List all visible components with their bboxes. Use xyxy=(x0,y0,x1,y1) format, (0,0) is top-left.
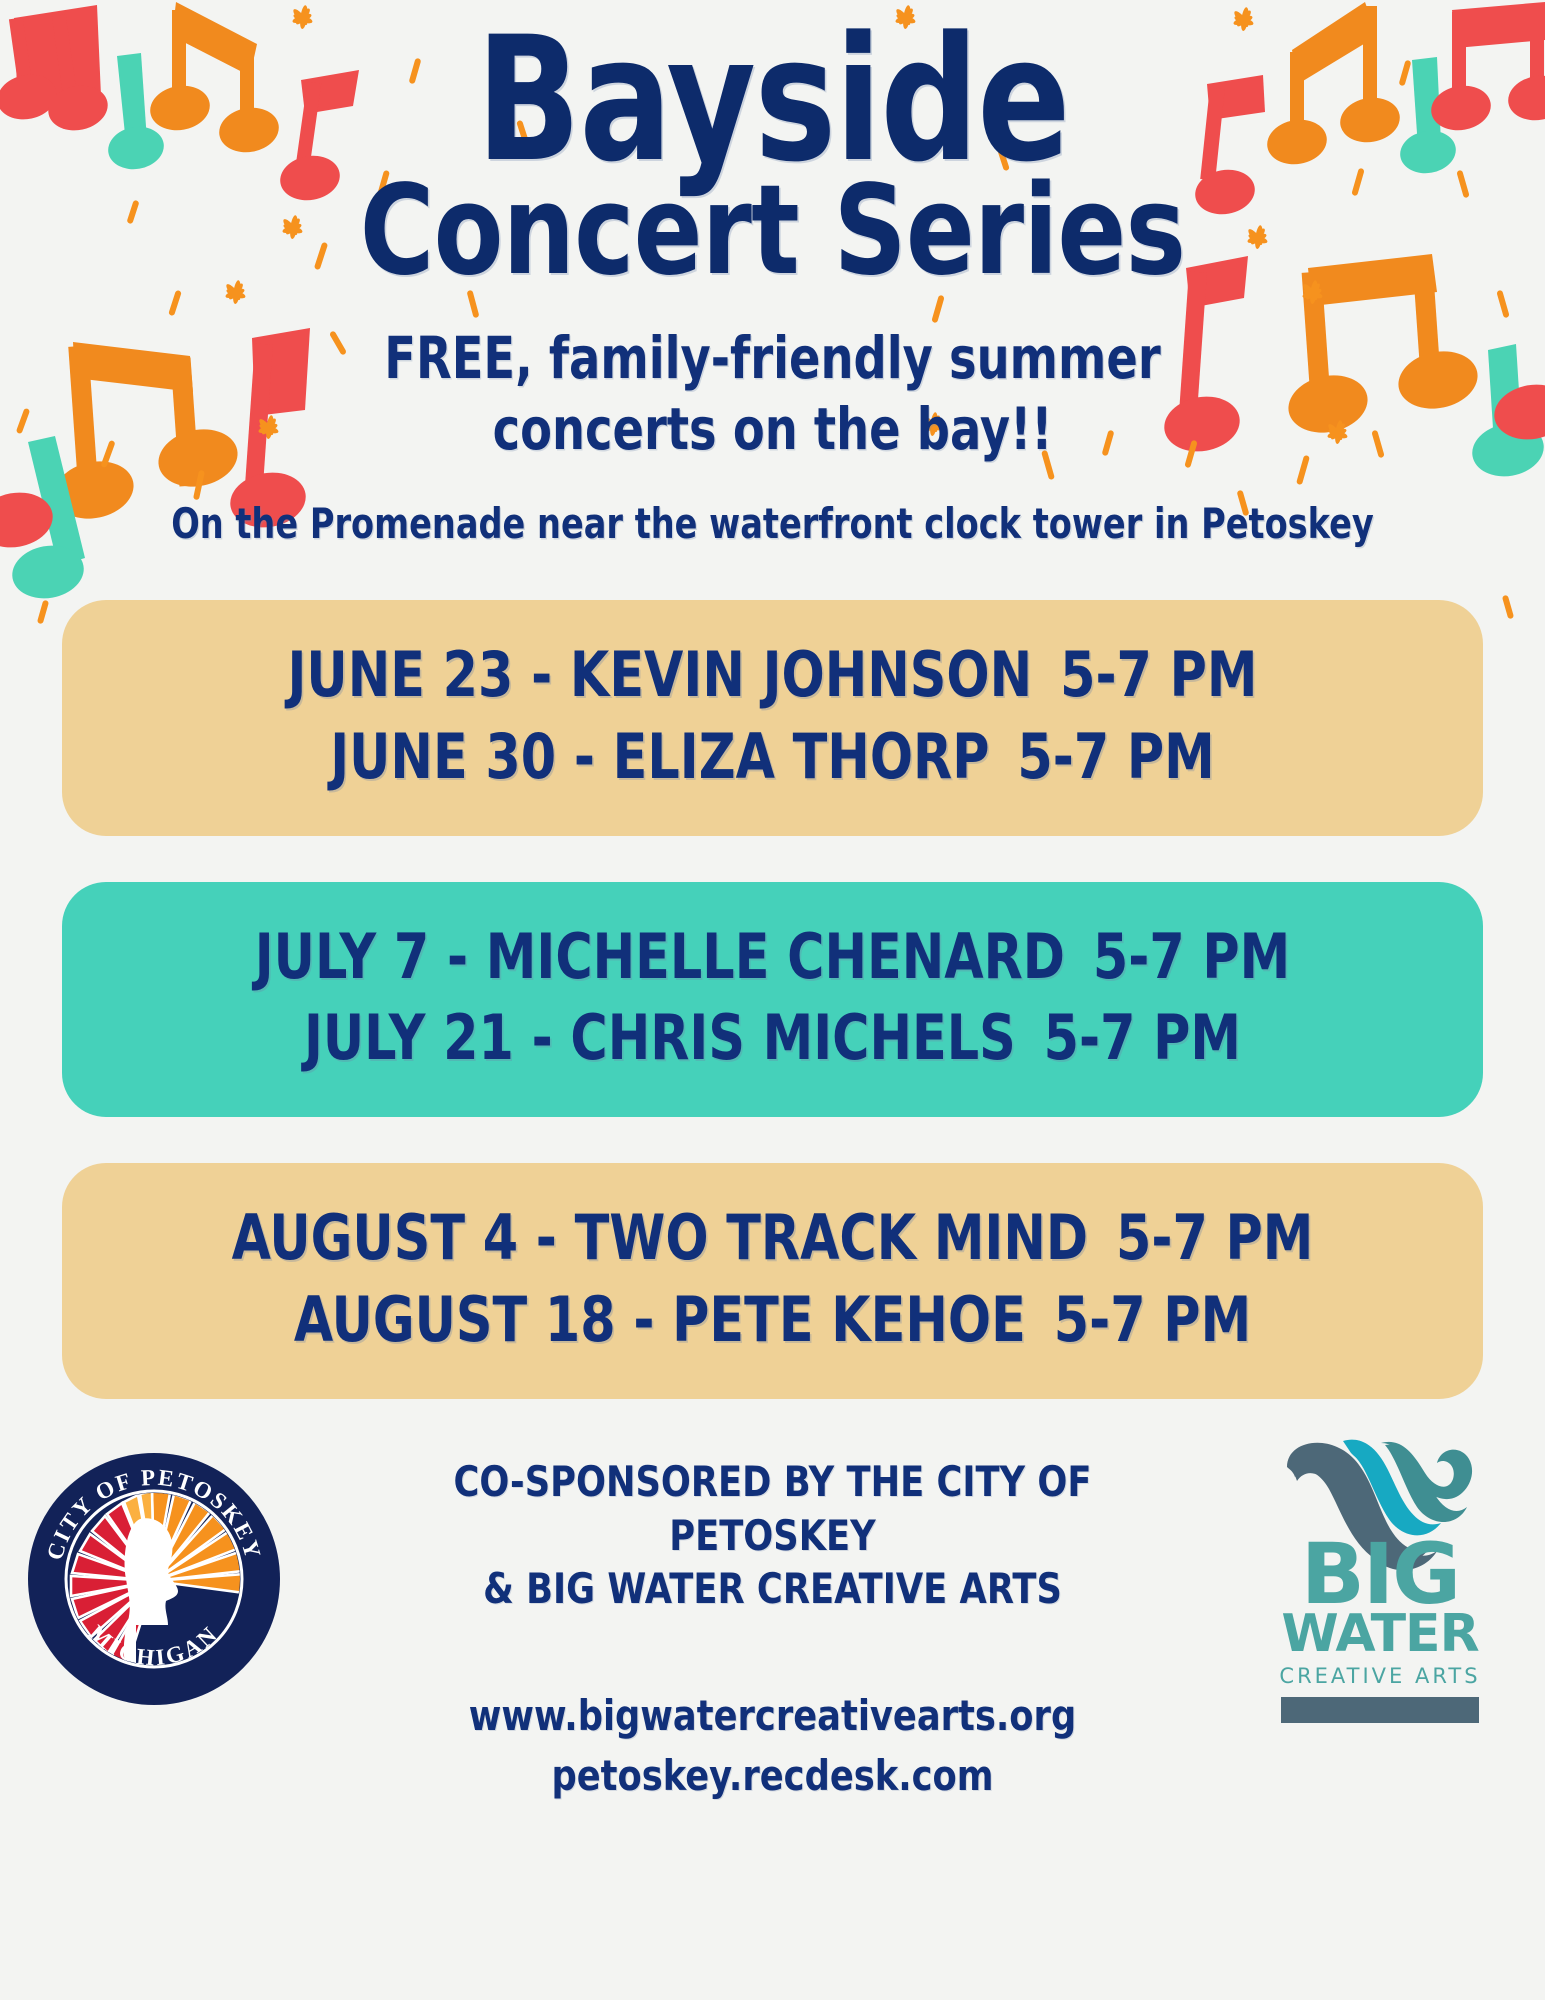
event-time: 5-7 PM xyxy=(1044,1001,1241,1074)
schedule-row: AUGUST 18 - PETE KEHOE5-7 PM xyxy=(190,1279,1355,1361)
bw-bottom-bar xyxy=(1281,1697,1479,1723)
poster-header: Bayside Concert Series FREE, family-frie… xyxy=(0,0,1545,548)
june-band: JUNE 23 - KEVIN JOHNSON5-7 PM JUNE 30 - … xyxy=(62,600,1483,836)
event-label: JULY 21 - CHRIS MICHELS xyxy=(304,1001,1016,1074)
website-url-recdesk[interactable]: petoskey.recdesk.com xyxy=(376,1746,1170,1806)
tagline-line-2: concerts on the bay!! xyxy=(155,394,1391,465)
city-of-petoskey-seal-logo: CITY OF PETOSKEY MICHIGAN xyxy=(28,1453,280,1705)
event-time: 5-7 PM xyxy=(1017,720,1214,793)
event-label: JULY 7 - MICHELLE CHENARD xyxy=(255,920,1065,993)
venue-line: On the Promenade near the waterfront clo… xyxy=(155,499,1391,548)
bw-line-2: WATER xyxy=(1281,1604,1478,1664)
bw-line-3: CREATIVE ARTS xyxy=(1279,1664,1480,1688)
sponsor-line-1: CO-SPONSORED BY THE CITY OF PETOSKEY xyxy=(376,1455,1170,1563)
poster-footer: CITY OF PETOSKEY MICHIGAN CO-SPONSORED B… xyxy=(0,1445,1545,1825)
july-band: JULY 7 - MICHELLE CHENARD5-7 PM JULY 21 … xyxy=(62,882,1483,1118)
event-label: AUGUST 4 - TWO TRACK MIND xyxy=(232,1201,1088,1274)
event-time: 5-7 PM xyxy=(1093,920,1290,993)
event-time: 5-7 PM xyxy=(1116,1201,1313,1274)
schedule-list: JUNE 23 - KEVIN JOHNSON5-7 PM JUNE 30 - … xyxy=(0,600,1545,1399)
concert-poster: Bayside Concert Series FREE, family-frie… xyxy=(0,0,1545,2000)
event-time: 5-7 PM xyxy=(1054,1283,1251,1356)
big-water-creative-arts-logo: BIG WATER CREATIVE ARTS xyxy=(1245,1415,1515,1775)
website-url-bigwater[interactable]: www.bigwatercreativearts.org xyxy=(376,1686,1170,1746)
schedule-row: JUNE 30 - ELIZA THORP5-7 PM xyxy=(190,716,1355,798)
august-band: AUGUST 4 - TWO TRACK MIND5-7 PM AUGUST 1… xyxy=(62,1163,1483,1399)
page-title: Bayside xyxy=(155,18,1391,181)
url-block: www.bigwatercreativearts.org petoskey.re… xyxy=(300,1686,1245,1805)
footer-text-block: CO-SPONSORED BY THE CITY OF PETOSKEY & B… xyxy=(300,1455,1245,1806)
tagline: FREE, family-friendly summer concerts on… xyxy=(155,323,1391,465)
event-label: AUGUST 18 - PETE KEHOE xyxy=(294,1283,1026,1356)
event-label: JUNE 30 - ELIZA THORP xyxy=(330,720,989,793)
schedule-row: AUGUST 4 - TWO TRACK MIND5-7 PM xyxy=(190,1197,1355,1279)
page-subtitle: Concert Series xyxy=(139,169,1406,293)
schedule-row: JULY 7 - MICHELLE CHENARD5-7 PM xyxy=(190,916,1355,998)
sponsor-line-2: & BIG WATER CREATIVE ARTS xyxy=(376,1562,1170,1616)
tagline-line-1: FREE, family-friendly summer xyxy=(155,323,1391,394)
event-label: JUNE 23 - KEVIN JOHNSON xyxy=(288,638,1033,711)
schedule-row: JULY 21 - CHRIS MICHELS5-7 PM xyxy=(190,997,1355,1079)
schedule-row: JUNE 23 - KEVIN JOHNSON5-7 PM xyxy=(190,634,1355,716)
event-time: 5-7 PM xyxy=(1060,638,1257,711)
